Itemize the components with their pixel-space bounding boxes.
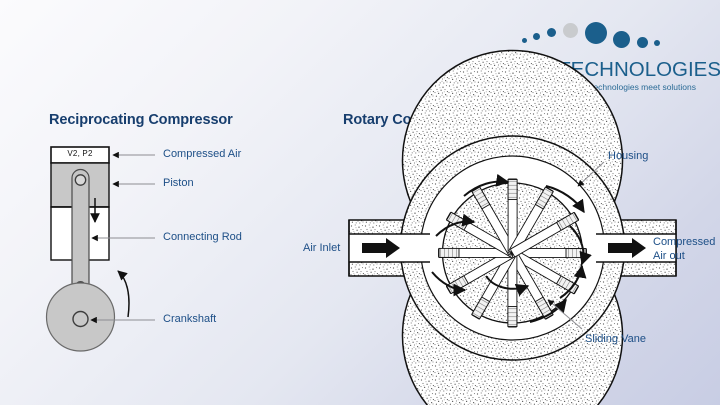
label-housing: Housing — [608, 150, 648, 163]
rotary-compressor-drawing — [349, 50, 676, 405]
slide-canvas: amsTECHNOLOGIES where technologies meet … — [0, 0, 720, 405]
label-compressed-air: Compressed Air — [163, 148, 241, 161]
label-air-inlet: Air Inlet — [303, 242, 340, 255]
rotation-arc-arrow — [118, 271, 129, 317]
label-compressed-air-out-line1: Compressed — [653, 236, 715, 249]
piston-pin — [75, 175, 85, 185]
label-piston: Piston — [163, 177, 194, 190]
label-compressed-air-out-line2: Air out — [653, 250, 685, 263]
label-sliding-vane: Sliding Vane — [585, 333, 646, 346]
connecting-rod — [72, 170, 89, 298]
crankshaft-center-hole — [73, 312, 88, 327]
reciprocating-compressor-drawing — [47, 147, 156, 351]
chamber-label-v2p2: V2, P2 — [51, 149, 109, 158]
label-crankshaft: Crankshaft — [163, 313, 216, 326]
label-connecting-rod: Connecting Rod — [163, 231, 242, 244]
